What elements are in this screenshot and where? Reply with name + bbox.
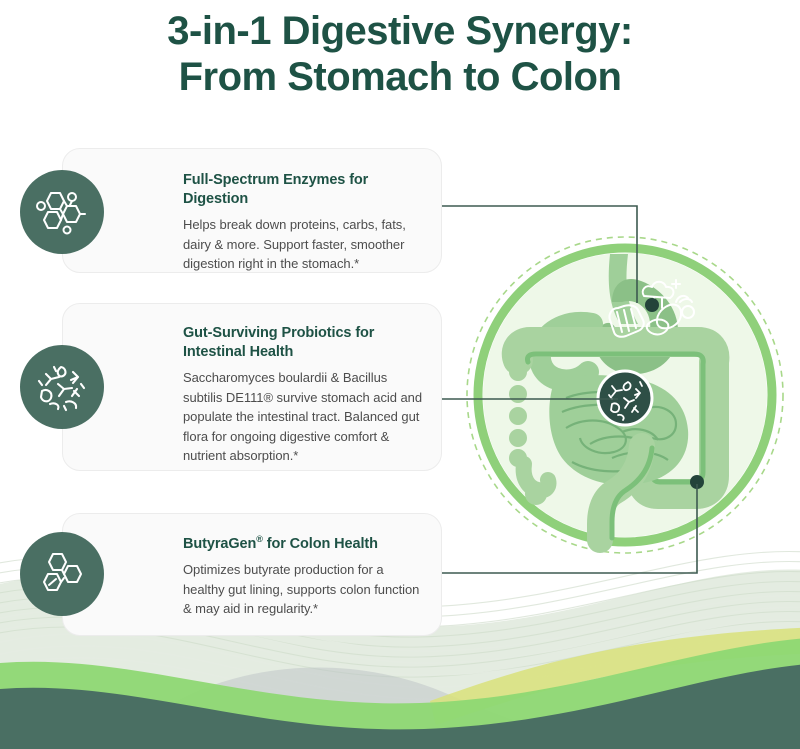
title-line-2: From Stomach to Colon: [0, 54, 800, 100]
card-probiotics-body: Saccharomyces boulardii & Bacillus subti…: [183, 368, 423, 466]
card-butyragen-heading: ButyraGen® for Colon Health: [183, 535, 423, 554]
card-probiotics[interactable]: Gut-Surviving Probiotics for Intestinal …: [62, 303, 442, 471]
connector-butyragen: [433, 484, 697, 573]
card-butyragen-heading-rest: for Colon Health: [263, 536, 378, 552]
card-butyragen[interactable]: ButyraGen® for Colon Health Optimizes bu…: [62, 513, 442, 636]
card-butyragen-heading-main: ButyraGen: [183, 536, 256, 552]
card-probiotics-heading: Gut-Surviving Probiotics for Intestinal …: [183, 324, 423, 362]
card-enzymes[interactable]: Full-Spectrum Enzymes for Digestion Help…: [62, 148, 442, 273]
card-butyragen-body: Optimizes butyrate production for a heal…: [183, 560, 423, 619]
card-enzymes-heading: Full-Spectrum Enzymes for Digestion: [183, 171, 423, 209]
title-line-1: 3-in-1 Digestive Synergy:: [167, 9, 632, 53]
hexagon-trio-icon: [20, 532, 104, 616]
card-enzymes-body: Helps break down proteins, carbs, fats, …: [183, 215, 423, 274]
connector-enzymes: [433, 206, 637, 303]
molecule-hexagons-icon: [20, 170, 104, 254]
page-title: 3-in-1 Digestive Synergy: From Stomach t…: [0, 8, 800, 100]
bacteria-cluster-icon: [20, 345, 104, 429]
infographic-canvas: 3-in-1 Digestive Synergy: From Stomach t…: [0, 0, 800, 749]
